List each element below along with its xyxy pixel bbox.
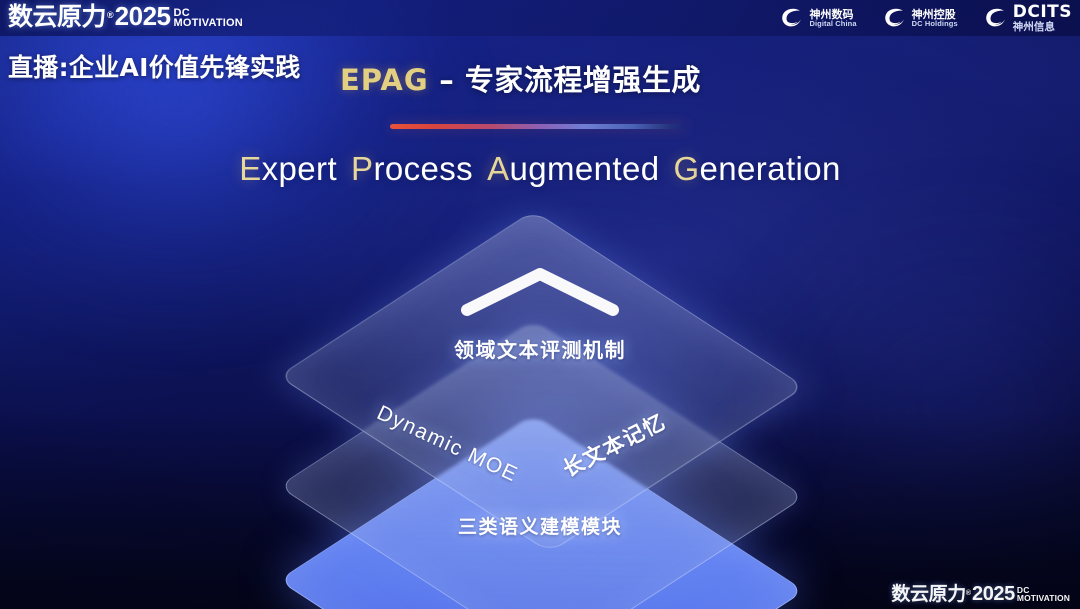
- diagram-layer-bottom-label: 三类语义建模模块: [0, 512, 1080, 539]
- subtitle-cap-g: G: [673, 150, 699, 187]
- watermark-dc-motivation: DC MOTIVATION: [1017, 587, 1070, 603]
- subtitle-rest-generation: eneration: [700, 150, 841, 187]
- brand-dc-motivation: DC MOTIVATION: [174, 8, 243, 28]
- subtitle-word-expert: Expert: [239, 150, 337, 187]
- brand-registered-mark: ®: [107, 10, 114, 20]
- subtitle-rest-expert: xpert: [262, 150, 337, 187]
- watermark-name-cn: 数云原力: [891, 585, 965, 604]
- gradient-divider: [390, 124, 686, 129]
- title-acronym: EPAG: [340, 63, 429, 97]
- brand-logo: 数云原力 ® 2025 DC MOTIVATION: [8, 3, 243, 29]
- subtitle-word-augmented: Augmented: [487, 150, 659, 187]
- subtitle-rest-augmented: ugmented: [509, 150, 659, 187]
- subtitle-rest-process: rocess: [373, 150, 473, 187]
- swirl-logo-icon: [982, 5, 1008, 31]
- subtitle-cap-e: E: [239, 150, 261, 187]
- partner-name-en: DC Holdings: [912, 20, 958, 28]
- live-session-label: 直播:企业AI价值先锋实践: [8, 48, 301, 84]
- partner-logo-dc-holdings: 神州控股 DC Holdings: [881, 5, 958, 31]
- subtitle-cap-a: A: [487, 150, 509, 187]
- title-chinese: – 专家流程增强生成: [429, 63, 701, 97]
- page-title: EPAG – 专家流程增强生成: [340, 57, 701, 99]
- watermark-year: 2025: [972, 584, 1015, 604]
- partner-name-en: DCITS: [1013, 4, 1072, 22]
- watermark-dc-line2: MOTIVATION: [1017, 595, 1070, 603]
- presentation-slide: 领域文本评测机制 Dynamic MOE 长文本记忆 三类语义建模模块 数云原力…: [0, 0, 1080, 609]
- brand-name-cn: 数云原力: [8, 4, 106, 29]
- footer-watermark: 数云原力 ® 2025 DC MOTIVATION: [891, 584, 1070, 604]
- partner-logo-dcits: DCITS 神州信息: [982, 4, 1072, 33]
- partner-logo-row: 神州数码 Digital China 神州控股 DC Holdings: [778, 4, 1072, 33]
- subtitle-word-generation: Generation: [673, 150, 840, 187]
- partner-text: 神州数码 Digital China: [809, 9, 856, 28]
- brand-dc-line2: MOTIVATION: [174, 18, 243, 28]
- partner-logo-digital-china: 神州数码 Digital China: [778, 5, 856, 31]
- partner-name-cn: 神州信息: [1013, 22, 1072, 33]
- partner-name-en: Digital China: [809, 20, 856, 28]
- swirl-logo-icon: [778, 5, 804, 31]
- subtitle-word-process: Process: [351, 150, 473, 187]
- brand-year: 2025: [115, 3, 171, 29]
- subtitle-cap-p: P: [351, 150, 373, 187]
- watermark-registered-mark: ®: [966, 590, 971, 597]
- swirl-logo-icon: [881, 5, 907, 31]
- subtitle-expanded: ExpertProcessAugmentedGeneration: [0, 150, 1080, 188]
- partner-text: DCITS 神州信息: [1013, 4, 1072, 33]
- diagram-layer-top-label: 领域文本评测机制: [0, 334, 1080, 363]
- partner-text: 神州控股 DC Holdings: [912, 9, 958, 28]
